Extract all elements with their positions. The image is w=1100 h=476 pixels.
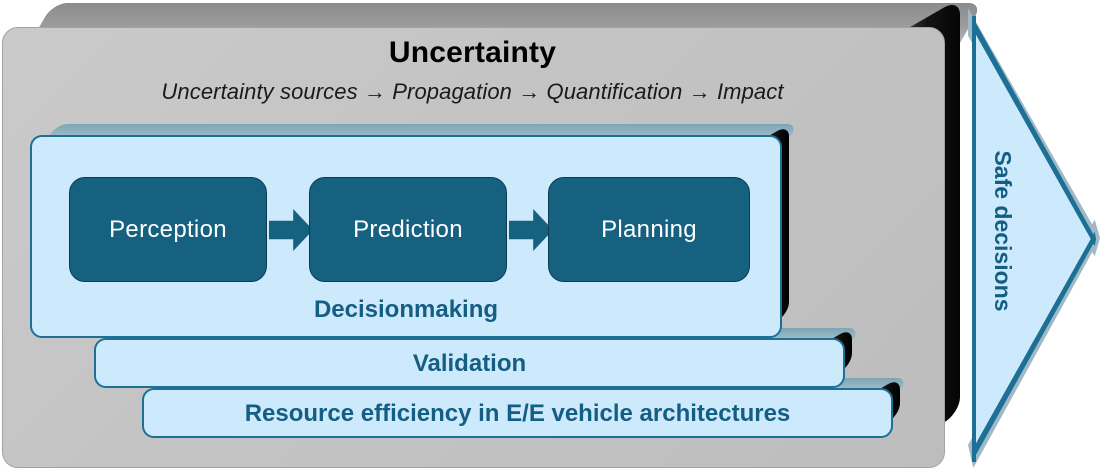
safe-decisions-arrow[interactable]: Safe decisions [968,8,1100,468]
process-box-prediction[interactable]: Prediction [309,177,507,282]
process-label-prediction: Prediction [353,216,463,244]
page-title: Uncertainty [0,36,945,70]
safe-decisions-left-edge [972,16,976,462]
layer-label-resource-efficiency: Resource efficiency in E/E vehicle archi… [144,400,891,428]
layer-resource-efficiency[interactable]: Resource efficiency in E/E vehicle archi… [142,388,893,438]
layer-validation[interactable]: Validation [94,338,845,388]
process-box-planning[interactable]: Planning [548,177,750,282]
process-label-perception: Perception [109,216,227,244]
safe-decisions-label: Safe decisions [984,8,1022,454]
layer-decisionmaking[interactable]: Perception Prediction Planning Decisionm… [30,135,782,338]
arrow-right-icon-perception-to-prediction [269,209,313,251]
process-box-perception[interactable]: Perception [69,177,267,282]
process-label-planning: Planning [601,216,697,244]
layer-label-validation: Validation [96,350,843,378]
diagram-canvas: Uncertainty Uncertainty sources → Propag… [0,0,1100,476]
uncertainty-flow-subtitle: Uncertainty sources → Propagation → Quan… [0,79,945,105]
arrow-right-icon-prediction-to-planning [509,209,553,251]
layer-label-decisionmaking: Decisionmaking [32,296,780,324]
